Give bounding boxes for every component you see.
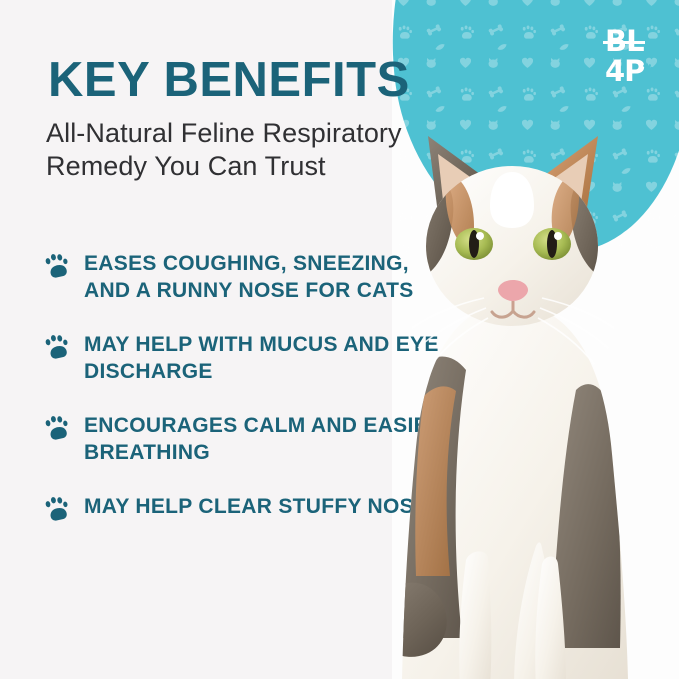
- page-title: KEY BENEFITS: [48, 52, 410, 108]
- brand-logo: BL 4P: [605, 26, 663, 88]
- paw-print-icon: [642, 63, 653, 74]
- page-subtitle: All-Natural Feline Respiratory Remedy Yo…: [46, 117, 446, 183]
- cat-photo: [392, 128, 679, 679]
- logo-line-1: BL: [605, 26, 663, 56]
- paw-print-icon: [44, 495, 70, 521]
- cat-body: [392, 304, 628, 679]
- paw-print-icon: [44, 414, 70, 440]
- promo-graphic: BL 4P: [0, 0, 679, 679]
- cat-eye-left: [455, 228, 493, 260]
- cat-eye-right: [533, 228, 571, 260]
- paw-print-icon: [44, 252, 70, 278]
- logo-line-2: 4P: [605, 56, 663, 86]
- paw-print-icon: [44, 333, 70, 359]
